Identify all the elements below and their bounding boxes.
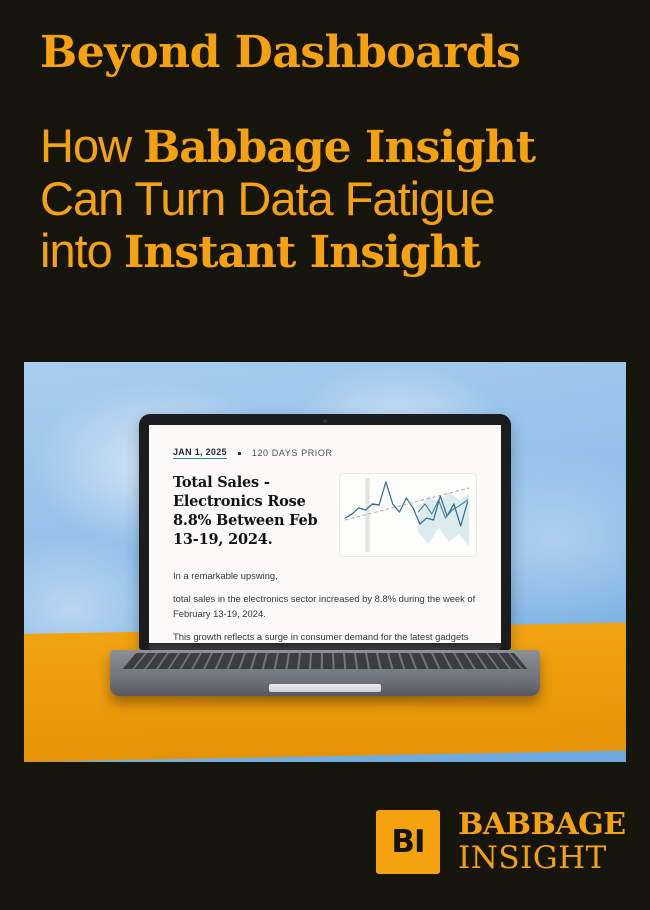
subtitle-line-3-light: into bbox=[40, 224, 124, 277]
subtitle-line-1-bold: Babbage Insight bbox=[143, 122, 535, 173]
page-subtitle: How Babbage Insight Can Turn Data Fatigu… bbox=[40, 76, 620, 278]
subtitle-line-2: Can Turn Data Fatigue bbox=[40, 173, 620, 225]
laptop-lid: JAN 1, 2025 120 DAYS PRIOR Total Sales -… bbox=[139, 414, 511, 650]
insight-headline: Total Sales - Electronics Rose 8.8% Betw… bbox=[173, 473, 325, 557]
laptop-screen: JAN 1, 2025 120 DAYS PRIOR Total Sales -… bbox=[149, 425, 501, 643]
laptop-base bbox=[110, 650, 540, 696]
laptop-hinge bbox=[149, 643, 501, 650]
laptop-trackpad bbox=[269, 684, 381, 692]
subtitle-line-1: How Babbage Insight bbox=[40, 120, 620, 173]
subtitle-line-3: into Instant Insight bbox=[40, 225, 620, 278]
insight-paragraph: This growth reflects a surge in consumer… bbox=[173, 629, 477, 643]
insight-date: JAN 1, 2025 bbox=[173, 447, 227, 459]
logo-line-babbage: BABBAGE bbox=[458, 810, 626, 840]
subtitle-line-2-light: Can Turn Data Fatigue bbox=[40, 172, 495, 225]
insight-body: Total Sales - Electronics Rose 8.8% Betw… bbox=[173, 473, 477, 557]
brand-logo: BI BABBAGE INSIGHT bbox=[376, 810, 626, 874]
insight-paragraph: total sales in the electronics sector in… bbox=[173, 591, 477, 622]
laptop-device: JAN 1, 2025 120 DAYS PRIOR Total Sales -… bbox=[139, 414, 511, 696]
insight-paragraph: In a remarkable upswing, bbox=[173, 568, 477, 584]
subtitle-line-3-bold: Instant Insight bbox=[124, 227, 480, 278]
logo-line-insight: INSIGHT bbox=[458, 840, 626, 874]
insight-paragraphs: In a remarkable upswing, total sales in … bbox=[173, 557, 477, 643]
page-title: Beyond Dashboards bbox=[40, 30, 620, 76]
hero-photo: JAN 1, 2025 120 DAYS PRIOR Total Sales -… bbox=[24, 362, 626, 762]
cover-header: Beyond Dashboards How Babbage Insight Ca… bbox=[40, 30, 620, 278]
insight-meta-row: JAN 1, 2025 120 DAYS PRIOR bbox=[173, 447, 477, 459]
laptop-keyboard bbox=[122, 653, 527, 669]
chart-svg bbox=[340, 474, 476, 556]
logo-wordmark: BABBAGE INSIGHT bbox=[458, 810, 626, 874]
insight-comparison-label: 120 DAYS PRIOR bbox=[252, 448, 333, 458]
separator-dot-icon bbox=[238, 452, 241, 455]
webcam-icon bbox=[323, 419, 327, 423]
subtitle-line-1-light: How bbox=[40, 119, 143, 172]
insight-chart bbox=[339, 473, 477, 557]
chart-highlight-band bbox=[366, 478, 370, 552]
logo-mark-icon: BI bbox=[376, 810, 440, 874]
